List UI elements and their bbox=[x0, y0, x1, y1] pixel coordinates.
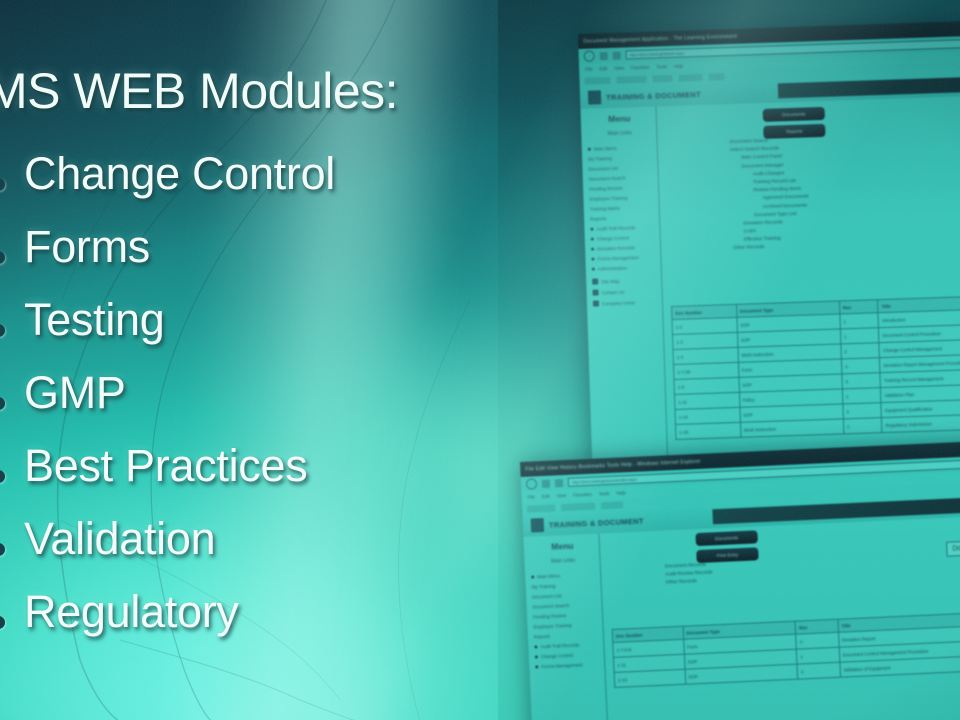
cell-doc-number: 1-9 bbox=[678, 384, 685, 389]
cell-document-type: Form bbox=[742, 367, 753, 372]
bullet-icon bbox=[0, 397, 5, 410]
list-item-label: Change Control bbox=[24, 148, 335, 200]
sidebar-item-my-training[interactable]: My Training bbox=[588, 155, 653, 162]
refresh-icon[interactable] bbox=[613, 51, 621, 59]
tree-node[interactable]: Audit Review Records bbox=[665, 571, 712, 578]
lower-content-area: Documents Print Entry Document List Docu… bbox=[599, 512, 960, 720]
map-icon bbox=[592, 278, 598, 284]
back-arrow-icon[interactable] bbox=[584, 50, 595, 61]
cell-rev: 1 bbox=[847, 424, 850, 429]
cell-doc-number: 1-3 bbox=[676, 339, 683, 344]
monitor-screenshot-photo: Document Management Application - The Le… bbox=[498, 0, 960, 720]
lower-record-tree[interactable]: Document Records Audit Review Records Ot… bbox=[665, 562, 713, 589]
forward-arrow-icon[interactable] bbox=[600, 52, 608, 60]
tree-node[interactable]: Other Records bbox=[666, 579, 713, 586]
menu-favorites[interactable]: Favorites bbox=[573, 492, 592, 498]
document-logo-icon bbox=[588, 90, 601, 104]
cell-title: Validation Plan bbox=[884, 392, 914, 398]
menu-edit[interactable]: Edit bbox=[542, 494, 550, 499]
bullet-icon bbox=[0, 470, 5, 483]
toolbar-history-button[interactable] bbox=[678, 73, 702, 81]
sidebar-item-training-matrix[interactable]: Training Matrix bbox=[590, 205, 655, 212]
sidebar-item-label: Site Map bbox=[601, 278, 619, 284]
forward-arrow-icon[interactable] bbox=[542, 479, 550, 487]
sidebar-item-document-search[interactable]: Document Search bbox=[532, 602, 597, 610]
cell-doc-number: 1-2 bbox=[676, 324, 683, 329]
bullet-icon bbox=[0, 543, 5, 556]
sidebar-item-audit-trail-records[interactable]: Audit Trail Records bbox=[534, 642, 599, 650]
lower-action-buttons[interactable]: Documents Print Entry bbox=[695, 530, 758, 567]
tree-node[interactable]: Training Record List bbox=[731, 178, 808, 186]
tree-node[interactable]: Review Pending Items bbox=[731, 187, 808, 195]
lower-sidebar-subheading: Main Links bbox=[530, 557, 595, 566]
sidebar-item-label: Main Menu bbox=[537, 573, 560, 579]
reports-button-label: Reports bbox=[786, 129, 802, 135]
upper-titlebar-text: Document Management Application - The Le… bbox=[583, 33, 737, 44]
sidebar-item-audit-trail-records[interactable]: Audit Trail Records bbox=[590, 225, 655, 232]
cell-doc-number: 1-7-0-8 bbox=[617, 647, 632, 653]
sidebar-item-document-list[interactable]: Document List bbox=[588, 165, 653, 172]
cell-title: Deviation Report Management Procedure bbox=[883, 360, 960, 368]
toolbar-search-button[interactable] bbox=[584, 76, 610, 84]
sidebar-item-employee-training[interactable]: Employee Training bbox=[589, 195, 654, 202]
sidebar-item-label: Reports bbox=[590, 216, 606, 222]
sidebar-item-label: Main Menu bbox=[594, 146, 617, 152]
sidebar-item-company-home[interactable]: Company Home bbox=[593, 298, 658, 306]
lower-address-value: http://dms.training/documentlist.aspx bbox=[572, 477, 637, 485]
tree-node[interactable]: Approved Documents bbox=[731, 195, 808, 203]
cell-document-type: SOP bbox=[741, 337, 751, 342]
print-entry-button[interactable]: Print Entry bbox=[696, 547, 759, 563]
tree-node[interactable]: Effective Training bbox=[733, 236, 810, 244]
sidebar-item-document-search[interactable]: Document Search bbox=[589, 175, 654, 182]
upper-record-tree[interactable]: Document Search Select Search Records Ma… bbox=[730, 137, 811, 254]
lower-app-title: TRAINING & DOCUMENT bbox=[549, 516, 644, 529]
tree-node[interactable]: Other Records bbox=[733, 244, 810, 252]
tree-node[interactable]: CAPA bbox=[733, 227, 810, 235]
sidebar-item-label: Change Control bbox=[541, 653, 573, 659]
toolbar-media-button[interactable] bbox=[652, 74, 672, 82]
cell-title: Introduction bbox=[882, 317, 906, 323]
sidebar-item-label: Company Home bbox=[602, 300, 635, 306]
upper-sidebar-subheading: Main Links bbox=[587, 130, 652, 138]
upper-sidebar-heading: Menu bbox=[587, 113, 652, 125]
upper-content-area: Documents Reports Document Search Select… bbox=[656, 92, 960, 474]
cell-document-type: SOP bbox=[743, 412, 753, 417]
sidebar-item-forms-management[interactable]: Forms Management bbox=[591, 255, 656, 262]
cell-doc-number: 1-11 bbox=[617, 662, 626, 667]
lower-page-body: Menu Main Links Main Menu My Training Do… bbox=[523, 512, 960, 720]
cell-document-type: SOP bbox=[740, 322, 750, 327]
cell-document-type: SOP bbox=[688, 674, 698, 679]
menu-help[interactable]: Help bbox=[674, 64, 683, 69]
cell-rev: 3 bbox=[845, 379, 848, 384]
bullet-icon bbox=[588, 148, 591, 151]
menu-edit[interactable]: Edit bbox=[599, 66, 607, 71]
th-rev: Rev bbox=[840, 300, 879, 313]
cell-rev: 1 bbox=[846, 394, 849, 399]
list-item-label: Testing bbox=[24, 294, 164, 346]
cell-title: Document Control Management Procedure bbox=[843, 648, 929, 657]
cell-doc-number: 1-7-08 bbox=[677, 369, 690, 374]
sidebar-item-deviation-records[interactable]: Deviation Records bbox=[591, 245, 656, 252]
sidebar-item-label: Training Matrix bbox=[590, 206, 620, 212]
reports-button[interactable]: Reports bbox=[763, 124, 825, 139]
sidebar-item-reports[interactable]: Reports bbox=[534, 632, 599, 640]
documents-button-label: Documents bbox=[782, 112, 805, 118]
menu-view[interactable]: View bbox=[556, 493, 566, 498]
sidebar-item-reports[interactable]: Reports bbox=[590, 215, 655, 222]
sidebar-item-administration[interactable]: Administration bbox=[592, 265, 657, 272]
bullet-icon bbox=[592, 268, 595, 271]
slide-text-block: MS WEB Modules: Change Control Forms Tes… bbox=[0, 0, 540, 720]
bullet-icon bbox=[590, 228, 593, 231]
bullet-icon bbox=[591, 238, 594, 241]
list-item-label: Forms bbox=[24, 221, 150, 273]
cell-document-type: SOP bbox=[742, 382, 752, 387]
cell-rev: 1 bbox=[844, 334, 847, 339]
browser-window-lower[interactable]: File Edit View History Bookmarks Tools H… bbox=[520, 437, 960, 720]
toolbar-favorites-button[interactable] bbox=[616, 75, 646, 83]
sidebar-item-site-map[interactable]: Site Map bbox=[592, 277, 657, 285]
bullet-icon bbox=[0, 178, 5, 191]
sidebar-item-change-control[interactable]: Change Control bbox=[535, 652, 600, 660]
sidebar-item-document-list[interactable]: Document List bbox=[532, 592, 597, 600]
home-icon bbox=[593, 300, 599, 306]
sidebar-item-employee-training[interactable]: Employee Training bbox=[533, 622, 598, 630]
sidebar-item-contact-us[interactable]: Contact Us bbox=[592, 288, 657, 296]
sidebar-item-my-training[interactable]: My Training bbox=[532, 582, 597, 590]
bullet-icon bbox=[0, 616, 5, 629]
page-title: MS WEB Modules: bbox=[0, 62, 398, 120]
document-list-field-value: Document List bbox=[952, 543, 960, 552]
cell-title: Regulatory Submission bbox=[885, 421, 931, 428]
cell-rev: 2 bbox=[844, 349, 847, 354]
sidebar-item-label: Contact Us bbox=[601, 289, 624, 295]
cell-rev: 1 bbox=[843, 319, 846, 324]
sidebar-item-label: Administration bbox=[598, 266, 627, 272]
cell-document-type: Work Instruction bbox=[744, 426, 777, 432]
list-item-label: Regulatory bbox=[24, 586, 239, 638]
cell-title: Change Control Management bbox=[883, 346, 942, 353]
sidebar-item-label: Document List bbox=[588, 166, 618, 172]
browser-window-upper[interactable]: Document Management Application - The Le… bbox=[578, 17, 960, 474]
cell-title: Training Record Management bbox=[884, 376, 944, 383]
tree-node[interactable]: Document Manager bbox=[730, 162, 807, 170]
menu-file[interactable]: File bbox=[585, 67, 592, 72]
cell-doc-number: 1-14 bbox=[679, 414, 688, 419]
sidebar-item-pending-review[interactable]: Pending Review bbox=[589, 185, 654, 192]
sidebar-item-label: Pending Review bbox=[589, 186, 622, 192]
cell-rev: 2 bbox=[801, 669, 804, 674]
bullet-icon bbox=[591, 248, 594, 251]
menu-help[interactable]: Help bbox=[616, 490, 625, 495]
sidebar-item-label: Audit Trail Records bbox=[540, 643, 579, 650]
cell-doc-number: 1-4 bbox=[677, 354, 684, 359]
slide-stage: Document Management Application - The Le… bbox=[0, 0, 960, 720]
mail-icon bbox=[592, 289, 598, 295]
cell-title: Equipment Qualification bbox=[885, 406, 933, 413]
list-item-label: GMP bbox=[24, 367, 126, 419]
menu-tools[interactable]: Tools bbox=[599, 491, 610, 496]
sidebar-item-label: Deviation Records bbox=[597, 245, 635, 251]
sidebar-item-label: Change Control bbox=[597, 235, 629, 241]
tree-node[interactable]: Document Type List bbox=[732, 211, 809, 219]
menu-view[interactable]: View bbox=[614, 65, 624, 70]
tree-node[interactable]: Main Control Panel bbox=[730, 154, 807, 162]
cell-doc-number: 1-16 bbox=[679, 429, 688, 434]
cell-title: Document Control Procedure bbox=[882, 331, 940, 338]
cell-title: Deviation Report bbox=[842, 636, 876, 643]
th-title: Title bbox=[878, 293, 960, 312]
cell-document-type: Form bbox=[687, 644, 698, 649]
cell-document-type: Work Instruction bbox=[741, 351, 774, 357]
cell-rev: A bbox=[800, 639, 803, 644]
bullet-icon bbox=[0, 324, 5, 337]
tree-node[interactable]: Archived Documents bbox=[732, 203, 809, 211]
bullet-icon bbox=[591, 258, 594, 261]
th-rev: Rev bbox=[796, 620, 839, 634]
document-list-field[interactable]: Document List bbox=[946, 536, 960, 557]
bullet-icon bbox=[0, 251, 5, 264]
cell-rev: A bbox=[845, 364, 848, 369]
cell-doc-number: 1-11 bbox=[678, 399, 687, 404]
cell-document-type: SOP bbox=[688, 659, 698, 664]
list-item-label: Best Practices bbox=[24, 440, 307, 492]
documents-button[interactable]: Documents bbox=[695, 530, 758, 546]
toolbar-history-button[interactable] bbox=[601, 501, 623, 509]
list-item-label: Validation bbox=[24, 513, 215, 565]
sidebar-item-label: Forms Management bbox=[597, 255, 638, 261]
print-entry-button-label: Print Entry bbox=[717, 552, 739, 558]
cell-document-type: Policy bbox=[743, 397, 755, 402]
tree-node[interactable]: Deviation Records bbox=[732, 219, 809, 227]
upper-app-title: TRAINING & DOCUMENT bbox=[606, 89, 701, 101]
documents-button-label: Documents bbox=[715, 535, 738, 541]
sidebar-item-change-control[interactable]: Change Control bbox=[591, 235, 656, 242]
cell-rev: 1 bbox=[800, 654, 803, 659]
titlebar-spacer bbox=[742, 26, 960, 37]
sidebar-item-pending-review[interactable]: Pending Review bbox=[533, 612, 598, 620]
cell-doc-number: 1-13 bbox=[618, 677, 627, 682]
sidebar-item-label: Audit Trail Records bbox=[596, 225, 635, 231]
sidebar-item-label: Forms Management bbox=[541, 662, 582, 669]
menu-tools[interactable]: Tools bbox=[656, 64, 667, 69]
th-doc-number: Doc Number bbox=[672, 305, 737, 319]
tree-node[interactable]: Select Search Records bbox=[730, 146, 807, 154]
menu-favorites[interactable]: Favorites bbox=[631, 65, 650, 71]
upper-address-value: http://dms.training/default.aspx bbox=[630, 50, 685, 57]
sidebar-item-label: My Training bbox=[588, 156, 612, 162]
cell-title: Validation of Equipment bbox=[843, 665, 890, 672]
cell-rev: 2 bbox=[846, 409, 849, 414]
tree-node[interactable]: Audit Changes bbox=[731, 170, 808, 178]
tree-node[interactable]: Document Records bbox=[665, 562, 712, 569]
documents-button[interactable]: Documents bbox=[763, 107, 825, 122]
toolbar-print-button[interactable] bbox=[708, 73, 724, 81]
tree-node[interactable]: Document Search bbox=[730, 137, 807, 145]
upper-document-table[interactable]: Doc Number Document Type Rev Title 1-2 S… bbox=[671, 292, 960, 440]
sidebar-item-forms-management[interactable]: Forms Management bbox=[535, 662, 600, 670]
sidebar-item-main-menu[interactable]: Main Menu bbox=[531, 572, 596, 580]
toolbar-favorites-button[interactable] bbox=[561, 502, 595, 511]
sidebar-item-main-menu[interactable]: Main Menu bbox=[588, 145, 653, 152]
sidebar-item-label: Document Search bbox=[589, 176, 626, 182]
lower-document-table[interactable]: Doc Number Document Type Rev Title 1-7-0… bbox=[612, 608, 960, 688]
upper-page-body: Menu Main Links Main Menu My Training Do… bbox=[580, 92, 960, 474]
sidebar-item-label: Employee Training bbox=[589, 195, 627, 201]
refresh-icon[interactable] bbox=[555, 479, 563, 487]
